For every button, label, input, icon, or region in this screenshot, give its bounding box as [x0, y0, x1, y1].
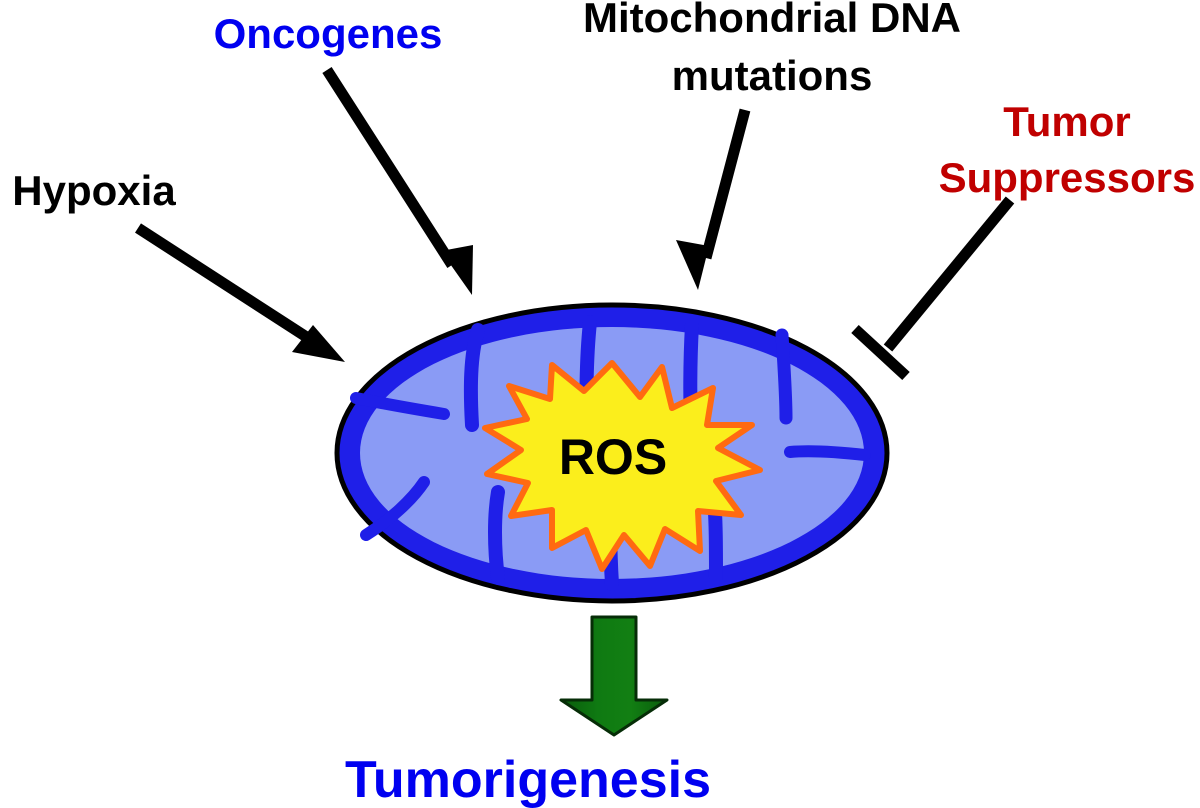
figure-root: ROS Hypoxia Oncogenes	[0, 0, 1200, 808]
crista-top-4	[782, 335, 786, 418]
tumorigenesis-arrow	[561, 617, 667, 735]
mtdna-arrow-shaft	[706, 110, 745, 258]
label-oncogenes: Oncogenes	[214, 10, 443, 57]
hypoxia-arrow-shaft	[138, 228, 322, 347]
hypoxia-arrow	[138, 228, 345, 362]
oncogenes-arrow-shaft	[327, 70, 452, 265]
label-tumorigenesis: Tumorigenesis	[345, 751, 711, 808]
crista-bottom-1	[495, 492, 498, 578]
oncogenes-arrow	[327, 70, 473, 295]
ros-label: ROS	[559, 429, 667, 485]
label-tumor-suppressors-line2: Suppressors	[939, 154, 1196, 201]
label-hypoxia: Hypoxia	[12, 167, 176, 214]
label-mtdna-line1: Mitochondrial DNA	[583, 0, 961, 41]
label-tumor-suppressors-line1: Tumor	[1003, 98, 1131, 145]
oncogenes-arrowhead	[441, 245, 473, 295]
crista-right	[790, 451, 865, 455]
tumorigenesis-arrow-shape	[561, 617, 667, 735]
label-mtdna-line2: mutations	[672, 52, 873, 99]
mtdna-arrowhead	[676, 240, 709, 290]
crista-top-1	[471, 330, 478, 425]
tumor-suppressors-line	[888, 200, 1010, 348]
ros-tumorigenesis-diagram: ROS Hypoxia Oncogenes	[0, 0, 1200, 808]
mtdna-mutations-arrow	[676, 110, 745, 290]
tumor-suppressors-inhibitor	[855, 200, 1010, 376]
mitochondrion: ROS	[337, 305, 887, 601]
